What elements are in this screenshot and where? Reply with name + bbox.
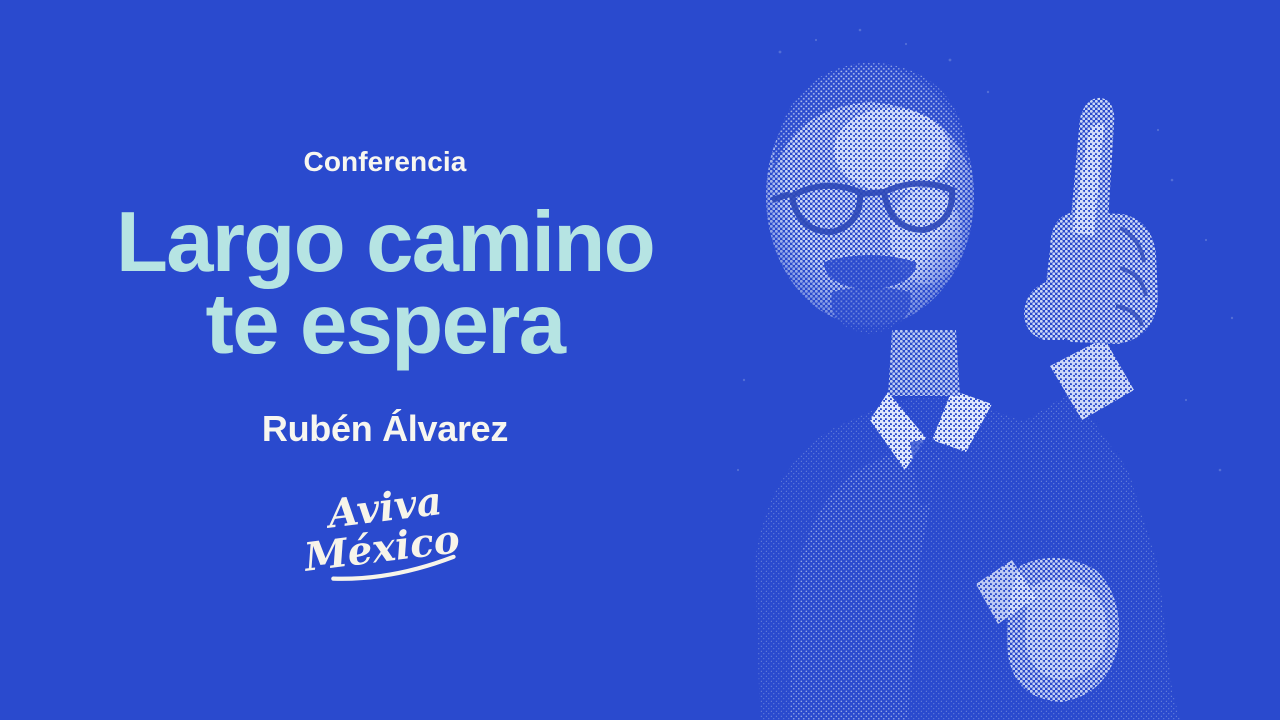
text-content-column: Conferencia Largo camino te espera Rubén…: [0, 0, 770, 720]
lower-hand: [976, 558, 1119, 702]
head: [766, 62, 974, 326]
page-title: Largo camino te espera: [116, 202, 654, 367]
conference-promo-slide: Conferencia Largo camino te espera Rubén…: [0, 0, 1280, 720]
glasses-icon: [772, 183, 952, 232]
raised-arm: [1020, 338, 1180, 720]
halftone-grain: [737, 29, 1233, 472]
logo-line-2: México: [300, 516, 462, 581]
event-type-label: Conferencia: [304, 148, 467, 176]
shirt-collar: [870, 390, 992, 506]
halftone-portrait-graphic: [720, 0, 1280, 720]
speaker-portrait: [720, 0, 1280, 720]
pointing-hand-icon: [1024, 98, 1158, 344]
neck: [888, 330, 960, 396]
title-line-2: te espera: [116, 284, 654, 366]
portrait-backdrop: [720, 0, 1280, 720]
title-line-1: Largo camino: [116, 202, 654, 284]
beard: [824, 255, 916, 334]
aviva-mexico-script-logo-icon: Aviva México: [300, 477, 470, 587]
speaker-name: Rubén Álvarez: [262, 411, 508, 447]
suit-torso: [755, 395, 1128, 720]
aviva-mexico-logo: Aviva México: [300, 477, 470, 587]
shirt-cuff: [1050, 338, 1134, 420]
